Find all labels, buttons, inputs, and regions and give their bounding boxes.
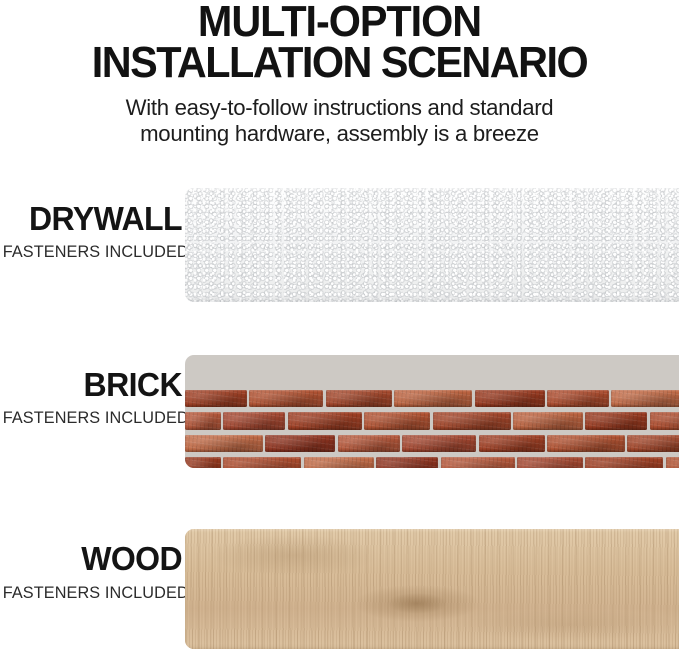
material-label-wood: WOOD: [5, 542, 182, 575]
page-title: MULTI-OPTION INSTALLATION SCENARIO: [20, 2, 658, 84]
page-subtitle: With easy-to-follow instructions and sta…: [5, 95, 674, 148]
title-line-1: MULTI-OPTION: [28, 2, 651, 43]
brick-row: [185, 378, 679, 399]
section-drywall: DRYWALL FASTENERS INCLUDED: [0, 188, 679, 306]
wood-grain-texture: [185, 529, 679, 649]
drywall-label-column: DRYWALL FASTENERS INCLUDED: [0, 188, 184, 306]
infographic-header: MULTI-OPTION INSTALLATION SCENARIO With …: [0, 0, 679, 147]
texture-panel-wood: [185, 529, 679, 649]
material-label-brick: BRICK: [5, 368, 182, 401]
fasteners-included-wood: FASTENERS INCLUDED: [3, 585, 182, 602]
subtitle-line-1: With easy-to-follow instructions and sta…: [5, 95, 674, 121]
brick-label-column: BRICK FASTENERS INCLUDED: [0, 353, 184, 473]
brick-running-bond-texture: [185, 355, 679, 468]
title-line-2: INSTALLATION SCENARIO: [28, 43, 651, 84]
brick-row: [185, 423, 679, 444]
brick-row: [185, 355, 679, 376]
material-label-drywall: DRYWALL: [5, 202, 182, 235]
fasteners-included-drywall: FASTENERS INCLUDED: [3, 244, 182, 261]
texture-panel-drywall: [185, 188, 679, 302]
subtitle-line-2: mounting hardware, assembly is a breeze: [5, 121, 674, 147]
wood-label-column: WOOD FASTENERS INCLUDED: [0, 523, 184, 649]
section-wood: WOOD FASTENERS INCLUDED: [0, 523, 679, 649]
section-brick: BRICK FASTENERS INCLUDED: [0, 353, 679, 473]
brick-row: [185, 400, 679, 421]
drywall-stipple-texture: [185, 188, 679, 302]
brick-row: [185, 445, 679, 466]
texture-panel-brick: [185, 355, 679, 468]
fasteners-included-brick: FASTENERS INCLUDED: [3, 410, 182, 427]
